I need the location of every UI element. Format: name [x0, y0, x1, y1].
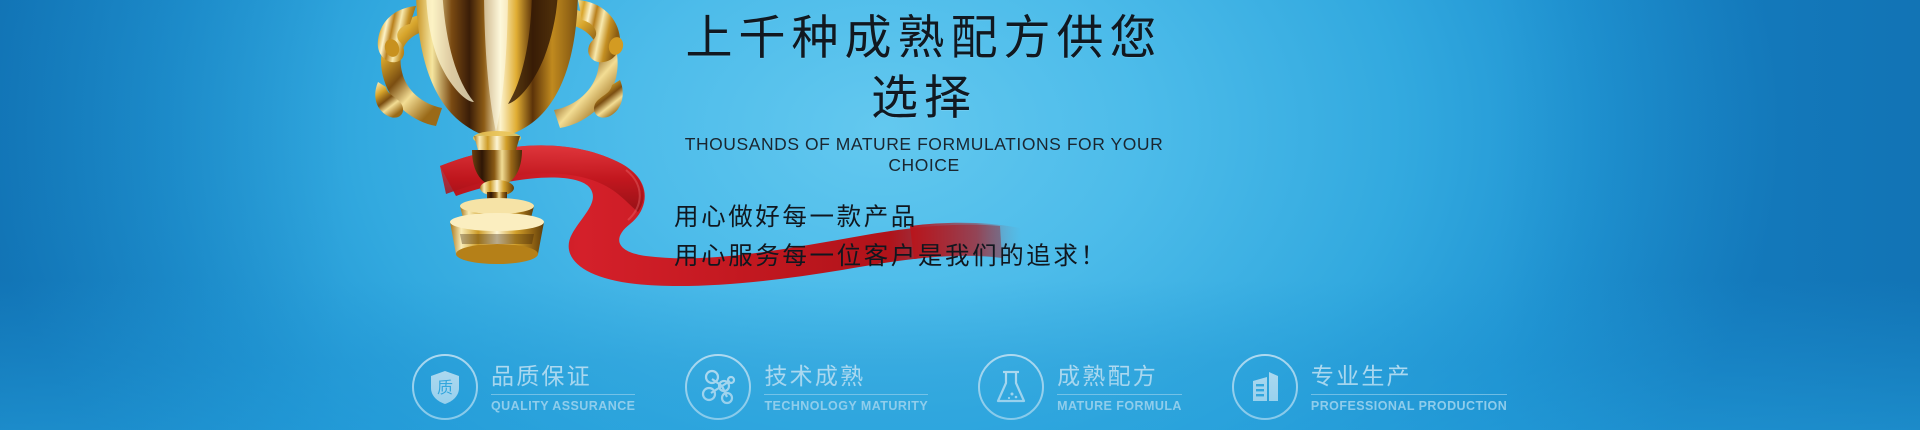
flask-icon: [978, 354, 1044, 420]
badge-label-en: PROFESSIONAL PRODUCTION: [1311, 399, 1507, 413]
molecule-icon: [685, 354, 751, 420]
badge-divider: [764, 394, 928, 395]
copy-block: 上千种成熟配方供您选择 THOUSANDS OF MATURE FORMULAT…: [668, 0, 1228, 276]
shield-glyph: 质: [437, 379, 453, 397]
badge-label-cn: 专业生产: [1311, 362, 1507, 390]
badge-label-en: MATURE FORMULA: [1057, 399, 1182, 413]
feature-badge-technology-maturity[interactable]: 技术成熟 TECHNOLOGY MATURITY: [685, 354, 928, 420]
page-subtitle: THOUSANDS OF MATURE FORMULATIONS FOR YOU…: [668, 134, 1180, 176]
shield-quality-icon: 质: [412, 354, 478, 420]
tagline-2: 用心服务每一位客户是我们的追求！: [674, 237, 1228, 276]
feature-badge-quality-assurance[interactable]: 质 品质保证 QUALITY ASSURANCE: [412, 354, 635, 420]
page-title: 上千种成熟配方供您选择: [668, 0, 1180, 128]
badge-label-cn: 成熟配方: [1057, 362, 1182, 390]
badge-divider: [1057, 394, 1182, 395]
badge-divider: [491, 394, 635, 395]
feature-badge-mature-formula[interactable]: 成熟配方 MATURE FORMULA: [978, 354, 1182, 420]
tagline-list: 用心做好每一款产品 用心服务每一位客户是我们的追求！: [668, 198, 1228, 276]
feature-badge-list: 质 品质保证 QUALITY ASSURANCE: [412, 354, 1507, 420]
badge-label-cn: 品质保证: [491, 362, 635, 390]
trophy-icon: [332, 0, 662, 276]
promo-banner: 上千种成熟配方供您选择 THOUSANDS OF MATURE FORMULAT…: [0, 0, 1920, 430]
tagline-1: 用心做好每一款产品: [674, 198, 1228, 237]
feature-badge-professional-production[interactable]: 专业生产 PROFESSIONAL PRODUCTION: [1232, 354, 1507, 420]
badge-label-cn: 技术成熟: [764, 362, 928, 390]
badge-divider: [1311, 394, 1507, 395]
badge-label-en: QUALITY ASSURANCE: [491, 399, 635, 413]
badge-label-en: TECHNOLOGY MATURITY: [764, 399, 928, 413]
factory-building-icon: [1232, 354, 1298, 420]
